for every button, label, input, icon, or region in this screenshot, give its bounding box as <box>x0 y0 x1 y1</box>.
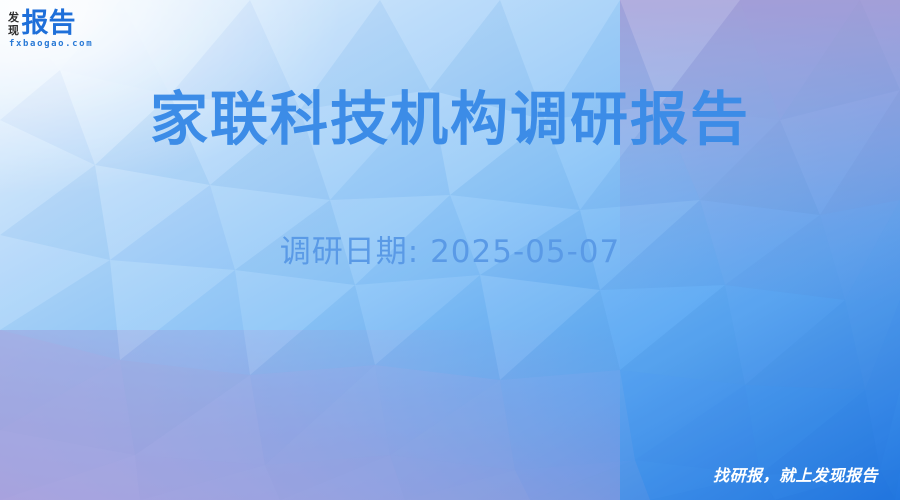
footer-slogan: 找研报，就上发现报告 <box>713 462 878 486</box>
brand-logo-char-bottom: 现 <box>8 24 19 37</box>
brand-logo-stacked-chars: 发 现 <box>8 11 19 38</box>
page-title: 家联科技机构调研报告 <box>0 82 900 156</box>
brand-logo[interactable]: 发 现 报告 fxbaogao.com <box>8 8 93 49</box>
report-cover-slide: 发 现 报告 fxbaogao.com 家联科技机构调研报告 调研日期: 202… <box>0 0 900 500</box>
brand-logo-wordmark: 报告 <box>22 10 76 38</box>
cover-title-block: 家联科技机构调研报告 <box>0 82 900 156</box>
brand-logo-wordmark-row: 发 现 报告 <box>8 8 76 38</box>
brand-logo-url: fxbaogao.com <box>9 39 93 49</box>
brand-logo-char-top: 发 <box>8 11 19 24</box>
cover-subtitle-block: 调研日期: 2025-05-07 <box>0 232 900 272</box>
survey-date-label: 调研日期: 2025-05-07 <box>0 232 900 272</box>
